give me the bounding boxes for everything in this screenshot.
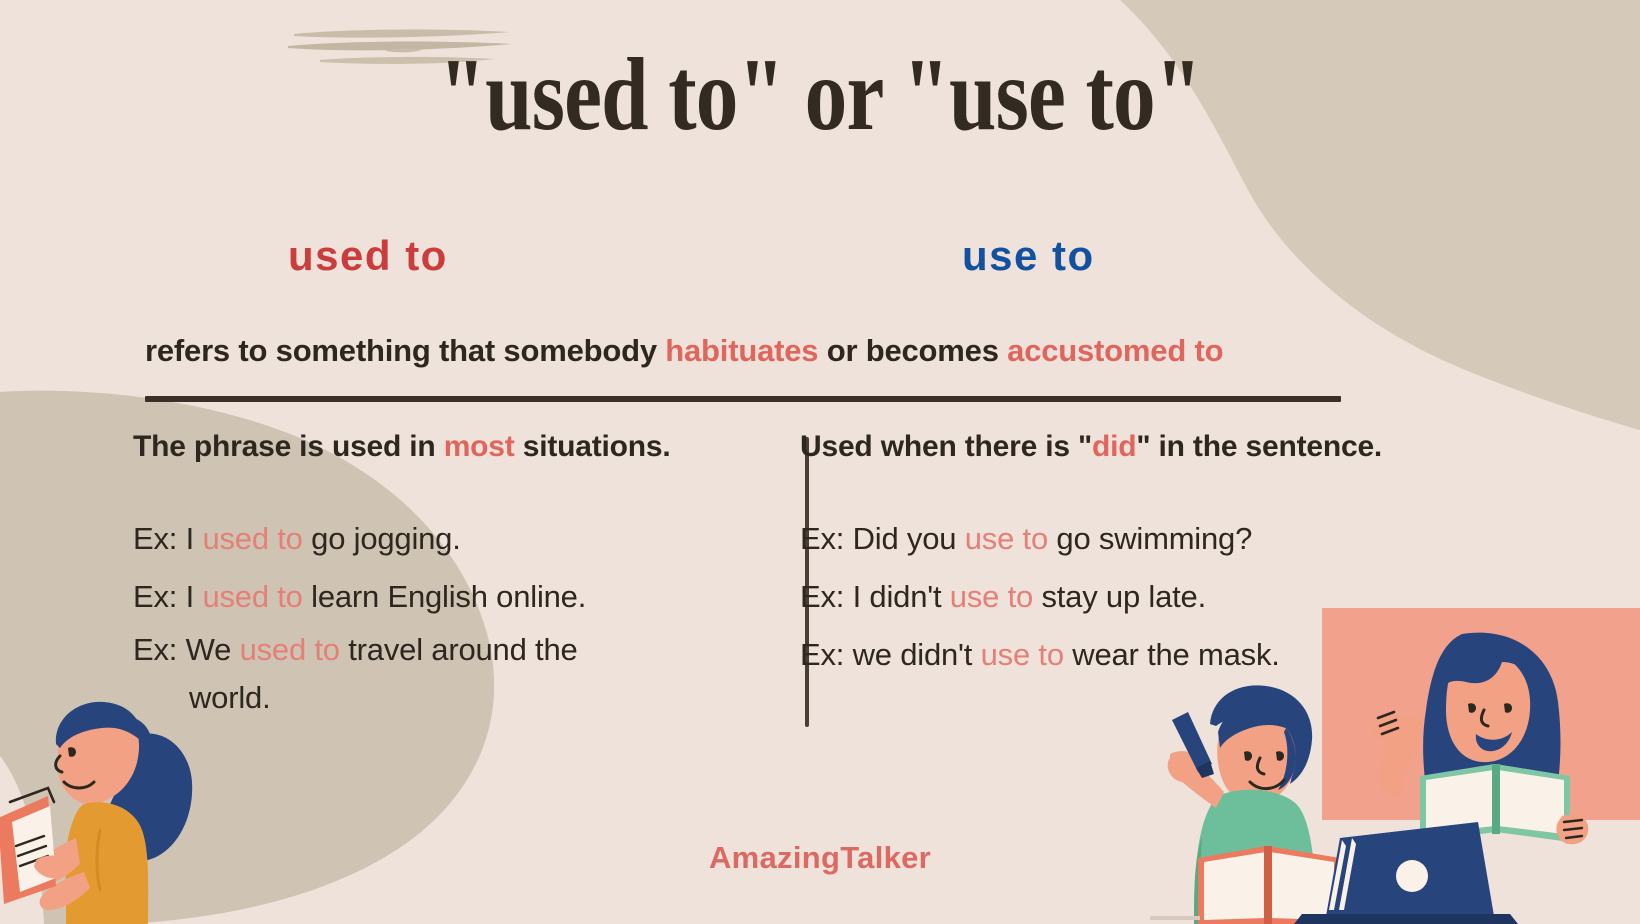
right-rule-highlight-did: did	[1092, 430, 1136, 463]
left-rule-part-1: The phrase is used in	[133, 430, 444, 463]
page-title: "used to" or "use to"	[148, 40, 1493, 149]
left-rule-highlight-most: most	[444, 430, 515, 463]
example-suffix: travel around the	[340, 632, 578, 667]
right-rule-part-1: Used when there is	[800, 430, 1078, 463]
list-item: Ex: I used to learn English online.	[133, 568, 773, 626]
example-prefix: Ex: We	[133, 632, 240, 667]
girl-reading-book-icon	[0, 690, 242, 924]
heading-use-to: use to	[962, 232, 1095, 280]
right-rule-part-2: in the sentence.	[1150, 430, 1382, 463]
example-suffix: learn English online.	[303, 579, 586, 614]
quote-close: "	[1136, 430, 1150, 463]
subtitle-part-2: or becomes	[818, 333, 1007, 368]
right-rule-text: Used when there is "did" in the sentence…	[800, 428, 1500, 466]
list-item: Ex: Did you use to go swimming?	[800, 510, 1500, 568]
subtitle-part-1: refers to something that somebody	[145, 333, 665, 368]
example-prefix: Ex: I	[133, 579, 202, 614]
example-prefix: Ex: I didn't	[800, 579, 950, 614]
infographic-poster: "used to" or "use to" used to use to ref…	[0, 0, 1640, 924]
example-highlight: use to	[950, 579, 1033, 614]
left-rule-text: The phrase is used in most situations.	[133, 428, 773, 466]
subtitle-highlight-accustomed-to: accustomed to	[1007, 333, 1223, 368]
heading-used-to: used to	[288, 232, 448, 280]
example-prefix: Ex: I	[133, 521, 202, 556]
example-suffix: go jogging.	[303, 521, 461, 556]
brand-name: AmazingTalker	[0, 840, 1640, 876]
example-prefix: Ex: Did you	[800, 521, 965, 556]
example-prefix: Ex: we didn't	[800, 637, 981, 672]
left-rule-part-2: situations.	[515, 430, 671, 463]
column-used-to: The phrase is used in most situations. E…	[133, 428, 773, 722]
definition-subtitle: refers to something that somebody habitu…	[145, 333, 1345, 369]
example-highlight: use to	[981, 637, 1064, 672]
quote-open: "	[1078, 430, 1092, 463]
list-item: Ex: I used to go jogging.	[133, 510, 773, 568]
horizontal-divider	[145, 396, 1341, 402]
laptop-base	[1294, 914, 1518, 924]
example-highlight: use to	[965, 521, 1048, 556]
subtitle-highlight-habituates: habituates	[665, 333, 818, 368]
example-suffix: go swimming?	[1048, 521, 1252, 556]
example-highlight: used to	[202, 579, 302, 614]
column-headings: used to use to	[0, 232, 1640, 296]
example-highlight: used to	[202, 521, 302, 556]
example-highlight: used to	[240, 632, 340, 667]
